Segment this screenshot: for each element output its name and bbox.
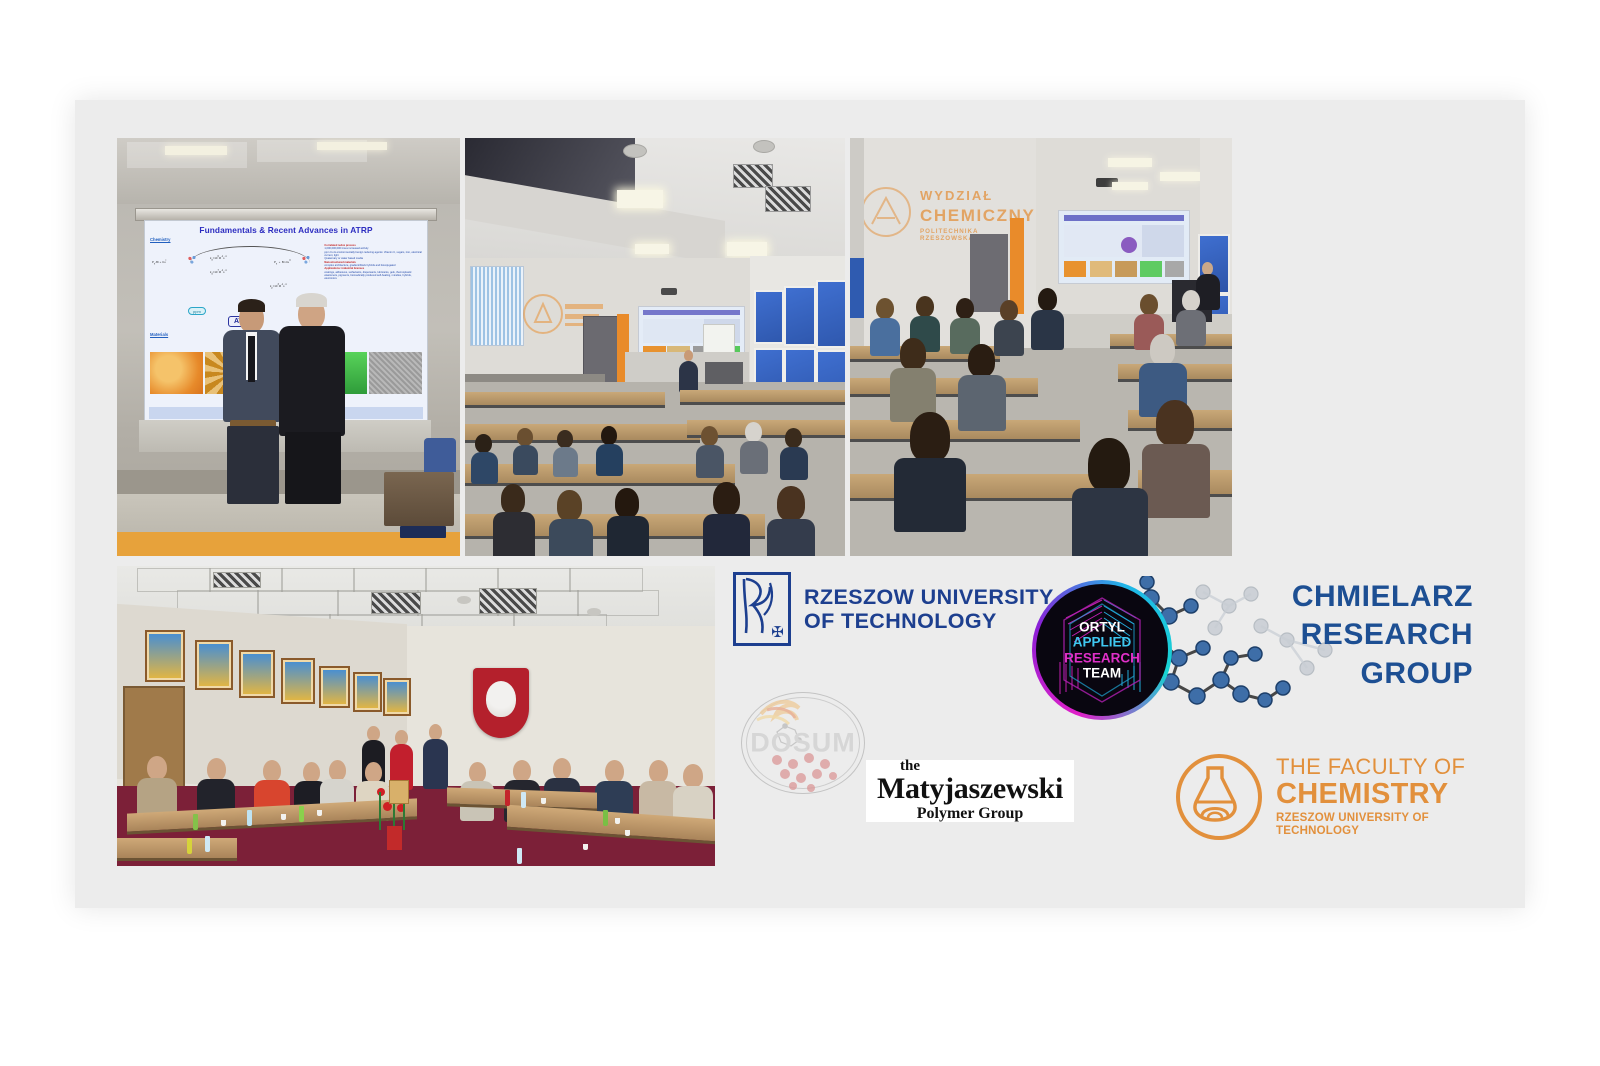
ceiling-vent bbox=[733, 164, 773, 188]
dosum-seal-logo: DOSUM bbox=[733, 684, 873, 802]
portrait-frame bbox=[353, 672, 382, 712]
maty-line2: Matyjaszewski bbox=[877, 774, 1063, 805]
portrait-frame bbox=[281, 658, 315, 704]
slide-section-chemistry: Chemistry bbox=[150, 237, 422, 242]
rzut-mark-icon: ✠ bbox=[733, 572, 791, 646]
foc-wordmark: THE FACULTY OF CHEMISTRY RZESZOW UNIVERS… bbox=[1276, 755, 1483, 839]
lectern-desk bbox=[384, 472, 454, 526]
chmielarz-line3: GROUP bbox=[1292, 655, 1473, 693]
rzeszow-university-of-technology-logo: ✠ RZESZOW UNIVERSITY OF TECHNOLOGY bbox=[733, 572, 1054, 646]
chmielarz-line2: RESEARCH bbox=[1292, 616, 1473, 654]
ortyl-line3: RESEARCH bbox=[1064, 650, 1140, 665]
ortyl-line4: TEAM bbox=[1064, 665, 1140, 680]
polish-coat-of-arms bbox=[473, 668, 529, 738]
foc-line3: RZESZOW UNIVERSITY OF TECHNOLOGY bbox=[1276, 812, 1483, 840]
slide-right-column: Correlated redox process 1,000,000,000 t… bbox=[324, 244, 422, 340]
projection-screen bbox=[1058, 210, 1190, 284]
orange-wall-accent bbox=[1010, 218, 1024, 314]
projector bbox=[661, 288, 677, 295]
maty-line3: Polymer Group bbox=[917, 805, 1024, 823]
lectern bbox=[705, 362, 743, 384]
ceiling-lamp bbox=[617, 190, 663, 208]
wall-brand-line1: WYDZIAŁ bbox=[920, 188, 993, 203]
folder bbox=[400, 526, 446, 538]
ortyl-wordmark: ORTYL APPLIED RESEARCH TEAM bbox=[1064, 619, 1140, 681]
photo-lecturers-at-screen: Fundamentals & Recent Advances in ATRP C… bbox=[117, 138, 460, 556]
portrait-frame bbox=[195, 640, 233, 690]
partner-logos-panel: ✠ RZESZOW UNIVERSITY OF TECHNOLOGY bbox=[718, 566, 1483, 866]
foc-line1: THE FACULTY OF bbox=[1276, 755, 1483, 779]
door bbox=[970, 234, 1008, 312]
cross-icon: ✠ bbox=[770, 625, 785, 640]
portrait-frame bbox=[383, 678, 411, 716]
slide-badge-ppm: ppm bbox=[188, 307, 206, 315]
matyjaszewski-polymer-group-logo: the Matyjaszewski Polymer Group bbox=[866, 760, 1074, 822]
dosum-acronym: DOSUM bbox=[750, 728, 856, 759]
rzut-wordmark: RZESZOW UNIVERSITY OF TECHNOLOGY bbox=[804, 585, 1054, 634]
ceiling-lamp bbox=[635, 244, 669, 254]
foc-line2: CHEMISTRY bbox=[1276, 779, 1483, 809]
portrait-frame bbox=[145, 630, 185, 682]
chair bbox=[424, 438, 456, 472]
portrait-frame bbox=[239, 650, 275, 698]
slide-bullet-7: coatings, adhesives, surfactants, disper… bbox=[324, 271, 411, 281]
ortyl-line2: APPLIED bbox=[1064, 635, 1140, 650]
ortyl-line1: ORTYL bbox=[1064, 619, 1140, 634]
periodic-table-poster bbox=[470, 266, 524, 346]
slide-bullet-2: ppm Cu & environmentally benign reducing… bbox=[324, 251, 421, 257]
faculty-of-chemistry-logo: THE FACULTY OF CHEMISTRY RZESZOW UNIVERS… bbox=[1176, 754, 1483, 840]
rzut-line1: RZESZOW UNIVERSITY bbox=[804, 585, 1054, 610]
flask-icon bbox=[1176, 754, 1262, 840]
photo-conference-room-group bbox=[117, 566, 715, 866]
chmielarz-wordmark: CHMIELARZ RESEARCH GROUP bbox=[1292, 578, 1473, 693]
vase bbox=[387, 826, 402, 850]
collage-canvas: Fundamentals & Recent Advances in ATRP C… bbox=[0, 0, 1600, 1066]
slide-section-materials: Materials bbox=[150, 332, 168, 337]
photo-lecture-hall-wide bbox=[465, 138, 845, 556]
chmielarz-line1: CHMIELARZ bbox=[1292, 578, 1473, 616]
wooden-stand bbox=[389, 780, 409, 804]
ortyl-applied-research-team-logo: ORTYL APPLIED RESEARCH TEAM bbox=[1036, 584, 1168, 716]
ceiling-lamp bbox=[727, 242, 767, 256]
photo-lecture-hall-from-back: WYDZIAŁ CHEMICZNY POLITECHNIKA RZESZOWSK… bbox=[850, 138, 1232, 556]
rzut-line2: OF TECHNOLOGY bbox=[804, 609, 1054, 634]
ceiling bbox=[117, 138, 460, 204]
collage-card: Fundamentals & Recent Advances in ATRP C… bbox=[75, 100, 1525, 908]
ceiling-vent bbox=[765, 186, 811, 212]
slide-title: Fundamentals & Recent Advances in ATRP bbox=[150, 225, 422, 235]
portrait-frame bbox=[319, 666, 350, 708]
